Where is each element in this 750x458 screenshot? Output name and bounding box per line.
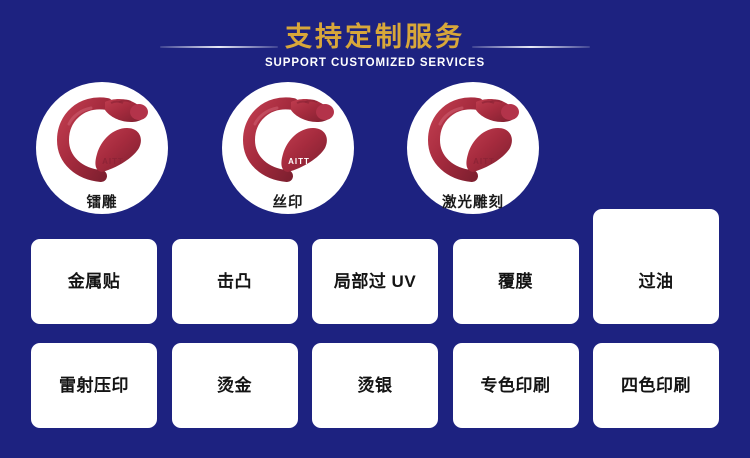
circle-label: 镭雕 [36, 194, 168, 212]
product-circle-item[interactable]: AITT 镭雕 [36, 82, 168, 214]
service-chip-label: 金属贴 [68, 271, 121, 293]
circle-label: 丝印 [222, 194, 354, 212]
customization-services-panel: 支持定制服务 SUPPORT CUSTOMIZED SERVICES [0, 0, 750, 458]
service-chip-label: 烫银 [358, 375, 393, 397]
service-chip-label: 烫金 [217, 375, 252, 397]
product-photo-icon: AITT [47, 88, 159, 192]
service-chip-label: 击凸 [217, 271, 252, 293]
product-circle-item[interactable]: AITT 激光雕刻 [407, 82, 539, 214]
product-circle-item[interactable]: AITT 丝印 [222, 82, 354, 214]
service-chip[interactable]: 雷射压印 [31, 343, 157, 428]
product-mark-text: AITT [473, 157, 495, 166]
product-circle-row: AITT 镭雕 AITT 丝印 [0, 82, 750, 214]
service-chip[interactable]: 烫金 [172, 343, 298, 428]
page-subtitle: SUPPORT CUSTOMIZED SERVICES [0, 55, 750, 71]
service-chip[interactable]: 金属贴 [31, 239, 157, 324]
service-chip[interactable]: 击凸 [172, 239, 298, 324]
circle-label: 激光雕刻 [407, 194, 539, 212]
header-title-block: 支持定制服务 SUPPORT CUSTOMIZED SERVICES [0, 22, 750, 71]
page-title: 支持定制服务 [0, 22, 750, 52]
service-chip-label: 专色印刷 [481, 375, 551, 397]
service-chip[interactable]: 专色印刷 [453, 343, 579, 428]
service-chip[interactable]: 烫银 [312, 343, 438, 428]
service-chip[interactable]: 四色印刷 [593, 343, 719, 428]
service-chip-row: 金属贴 击凸 局部过 UV 覆膜 过油 [31, 239, 719, 324]
product-photo-icon: AITT [233, 88, 345, 192]
service-chip[interactable]: 过油 [593, 239, 719, 324]
service-chip-label: 局部过 UV [334, 271, 416, 293]
service-chip-label: 过油 [639, 271, 674, 293]
service-chip[interactable]: 覆膜 [453, 239, 579, 324]
service-chip[interactable]: 局部过 UV [312, 239, 438, 324]
service-chip-label: 四色印刷 [621, 375, 691, 397]
service-chip-label: 覆膜 [498, 271, 533, 293]
product-mark-text: AITT [102, 157, 124, 166]
service-chip-row: 雷射压印 烫金 烫银 专色印刷 四色印刷 [31, 343, 719, 428]
product-photo-icon: AITT [418, 88, 530, 192]
product-mark-text: AITT [288, 157, 310, 166]
service-chip-label: 雷射压印 [59, 375, 129, 397]
header: 支持定制服务 SUPPORT CUSTOMIZED SERVICES [0, 22, 750, 78]
